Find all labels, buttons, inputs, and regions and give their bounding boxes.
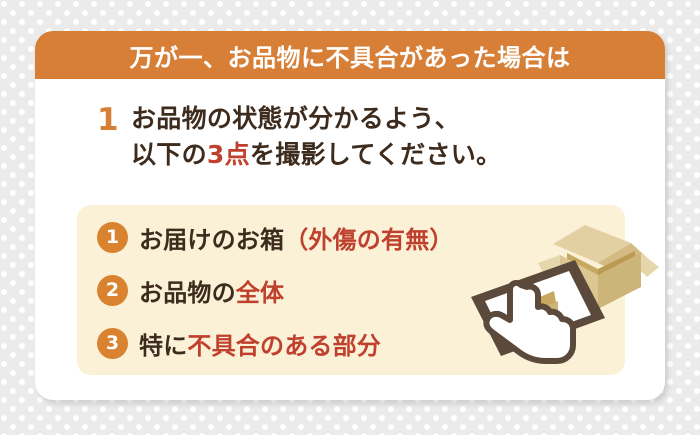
step-line2-highlight: 3点 xyxy=(207,140,250,169)
step-instruction-line-1: お品物の状態が分かるよう、 xyxy=(131,101,501,137)
checklist-label-2: お品物の全体 xyxy=(139,273,284,308)
checklist-label-2-highlight: 全体 xyxy=(236,279,284,307)
info-card: 万が一、お品物に不具合があった場合は 1 お品物の状態が分かるよう、 以下の3点… xyxy=(35,31,665,400)
checklist-item-2: 2 お品物の全体 xyxy=(97,271,284,309)
checklist-label-3-plain: 特に xyxy=(139,332,187,360)
checklist-label-3: 特に不具合のある部分 xyxy=(139,326,381,361)
step-one-block: 1 お品物の状態が分かるよう、 以下の3点を撮影してください。 xyxy=(97,101,501,172)
step-line2-suffix: を撮影してください。 xyxy=(250,140,502,169)
checklist-badge-3: 3 xyxy=(97,328,128,359)
banner-title: 万が一、お品物に不具合があった場合は xyxy=(130,38,571,73)
step-instruction-text: お品物の状態が分かるよう、 以下の3点を撮影してください。 xyxy=(131,101,501,172)
checklist-label-1-plain: お届けのお箱 xyxy=(139,226,284,254)
step-number: 1 xyxy=(97,101,131,140)
checklist-badge-1: 1 xyxy=(97,222,128,253)
checklist-label-1-highlight: （外傷の有無） xyxy=(284,226,453,254)
checklist-label-1: お届けのお箱（外傷の有無） xyxy=(139,220,454,255)
checklist-item-3: 3 特に不具合のある部分 xyxy=(97,324,381,362)
photograph-parcel-illustration xyxy=(435,191,665,391)
screenshot-canvas: 万が一、お品物に不具合があった場合は 1 お品物の状態が分かるよう、 以下の3点… xyxy=(0,0,700,435)
step-instruction-line-2: 以下の3点を撮影してください。 xyxy=(131,137,501,173)
checklist-label-2-plain: お品物の xyxy=(139,279,236,307)
checklist-label-3-highlight: 不具合のある部分 xyxy=(187,332,381,360)
checklist-item-1: 1 お届けのお箱（外傷の有無） xyxy=(97,218,454,256)
card-header-banner: 万が一、お品物に不具合があった場合は xyxy=(35,31,665,79)
step-line2-prefix: 以下の xyxy=(131,140,207,169)
checklist-badge-2: 2 xyxy=(97,275,128,306)
